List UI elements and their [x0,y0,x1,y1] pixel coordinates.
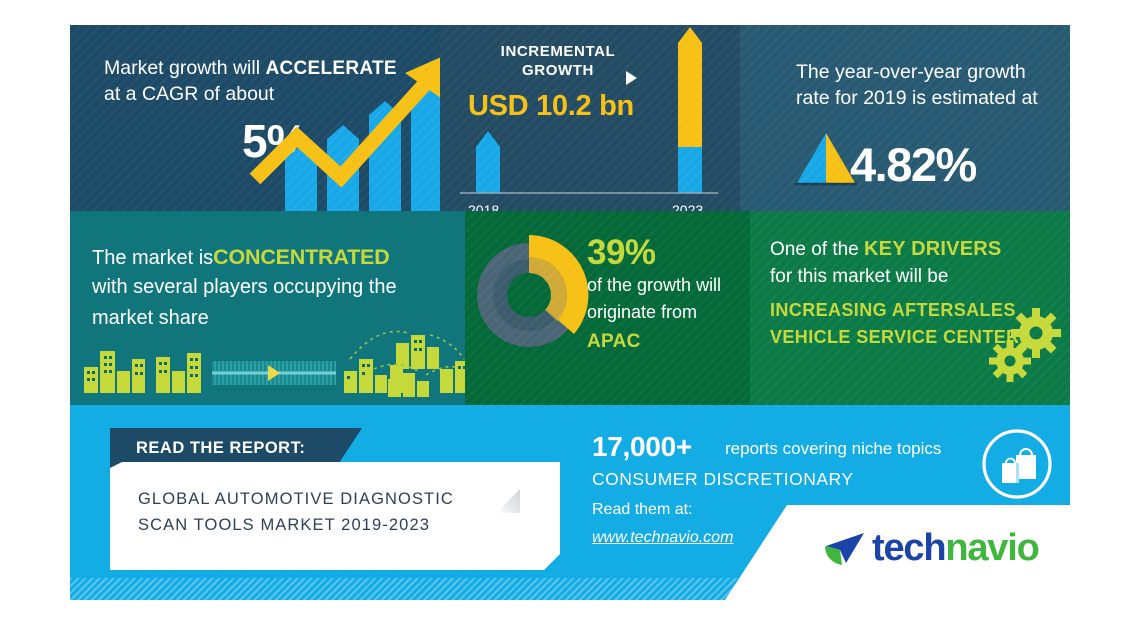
technavio-url[interactable]: www.technavio.com [592,529,733,547]
bar-2023-base [678,147,702,193]
apac-percentage: 39% [587,229,656,277]
yoy-line2: rate for 2019 is estimated at [796,85,1066,112]
cagr-line1-plain: Market growth will [104,57,265,79]
reports-count: 17,000+ [592,431,692,463]
panel-key-drivers: One of the KEY DRIVERS for this market w… [750,211,1070,405]
drivers-line2: for this market will be [770,264,1070,290]
gears-icon [988,311,1066,387]
growth-bar-chart [255,53,440,211]
yoy-line1: The year-over-year growth [796,59,1066,86]
market-distribution-illustration [78,331,465,401]
concentration-line3: market share [92,305,465,332]
apac-line2: originate from [587,300,750,324]
reports-caption: reports covering niche topics [725,439,941,459]
panel-yoy-growth: The year-over-year growth rate for 2019 … [740,25,1070,211]
panel-footer: READ THE REPORT: GLOBAL AUTOMOTIVE DIAGN… [70,405,1070,600]
drivers-highlight: KEY DRIVERS [864,238,1001,260]
read-the-report-label: READ THE REPORT: [136,439,305,458]
report-title-line1: GLOBAL AUTOMOTIVE DIAGNOSTIC [138,487,538,513]
panel-market-concentration: The market isCONCENTRATED with several p… [70,211,465,405]
panel-market-growth: Market growth will ACCELERATE at a CAGR … [70,25,440,211]
brand-part-tech: tech [872,527,945,569]
report-title-line2: SCAN TOOLS MARKET 2019-2023 [138,513,538,539]
bar-2018 [476,131,500,193]
concentration-line1-plain: The market is [92,247,213,269]
read-them-at-label: Read them at: [592,501,693,519]
technavio-logo[interactable]: technavio [820,527,1039,570]
report-category: CONSUMER DISCRETIONARY [592,469,854,490]
technavio-wordmark: technavio [872,527,1039,570]
brand-part-navio: navio [945,527,1038,569]
incremental-growth-title: INCREMENTAL GROWTH [468,43,648,81]
incremental-bars [460,121,725,193]
drivers-line3: INCREASING AFTERSALES [770,298,1016,322]
apac-line1: of the growth will [587,273,750,297]
axis-label-2018: 2018 [468,201,499,211]
concentration-line2: with several players occupying the [92,274,465,301]
shopping-bags-icon [980,427,1054,501]
axis-label-2023: 2023 [672,201,703,211]
technavio-logo-panel: technavio [725,505,1070,600]
panel-incremental-growth: INCREMENTAL GROWTH USD 10.2 bn 2018 2023 [440,25,740,211]
infographic-root: Market growth will ACCELERATE at a CAGR … [70,25,1070,600]
panel-apac-share: 39% of the growth will originate from AP… [465,211,750,405]
yoy-value: 4.82% [850,133,976,197]
apac-donut-chart [471,233,591,357]
concentration-line1: The market isCONCENTRATED [92,243,465,272]
apac-region: APAC [587,329,641,355]
report-title: GLOBAL AUTOMOTIVE DIAGNOSTIC SCAN TOOLS … [138,487,538,538]
concentration-highlight: CONCENTRATED [213,245,389,269]
drivers-line1: One of the KEY DRIVERS [770,236,1070,263]
bar-2023-increment [678,27,702,147]
play-triangle-icon [626,71,637,85]
drivers-line1-plain: One of the [770,239,864,260]
technavio-arrow-icon [820,529,866,569]
report-title-card[interactable]: GLOBAL AUTOMOTIVE DIAGNOSTIC SCAN TOOLS … [110,462,560,570]
triangle-up-icon [795,133,857,185]
